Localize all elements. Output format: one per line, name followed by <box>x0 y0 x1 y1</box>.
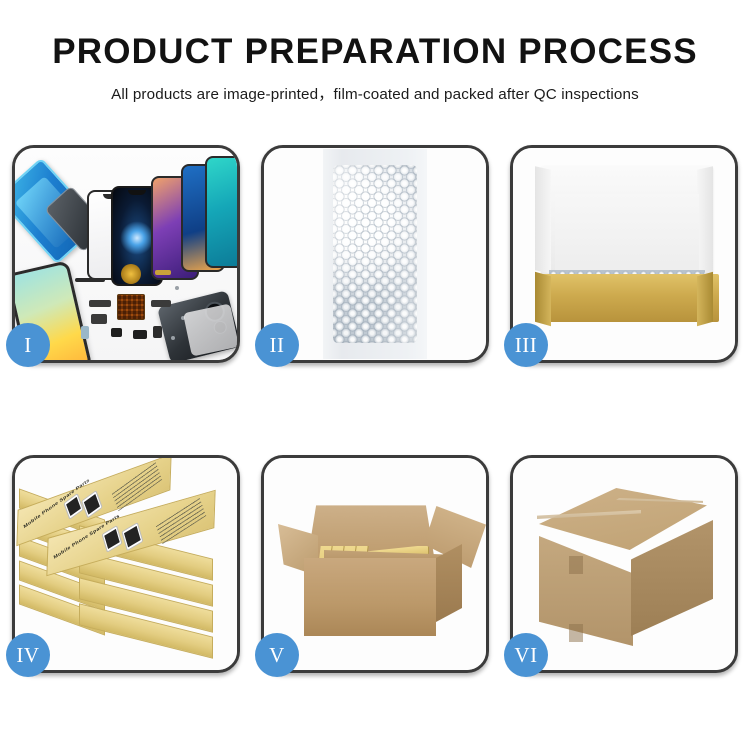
step-panel-2: II <box>261 145 489 363</box>
step-number-4: IV <box>6 633 50 677</box>
header: PRODUCT PREPARATION PROCESS All products… <box>0 0 750 104</box>
step-number-2: II <box>255 323 299 367</box>
step-panel-4: Mobile Phone Spare Parts Mobile Phone Sp… <box>12 455 240 673</box>
step-number-6: VI <box>504 633 548 677</box>
sealed-carton-left <box>539 536 633 646</box>
step-panel-6: VI <box>510 455 738 673</box>
page-title: PRODUCT PREPARATION PROCESS <box>0 34 750 71</box>
spare-parts-group <box>75 256 205 356</box>
step-image-2 <box>264 148 486 360</box>
step-panel-5: V <box>261 455 489 673</box>
step-panel-1: I I <box>12 145 240 363</box>
step-image-6 <box>513 458 735 670</box>
step-number-3: III <box>504 323 548 367</box>
product-preparation-infographic: PRODUCT PREPARATION PROCESS All products… <box>0 0 750 750</box>
bubble-wrap-pouch-icon <box>333 165 417 343</box>
kraft-tray-icon <box>535 274 719 322</box>
page-subtitle: All products are image-printed，film-coat… <box>0 82 750 104</box>
step-image-5 <box>264 458 486 670</box>
steps-grid: I I II <box>12 145 738 673</box>
box-lid-inner <box>555 194 699 274</box>
step-image-3 <box>513 148 735 360</box>
retail-box-stack: Mobile Phone Spare Parts Mobile Phone Sp… <box>15 458 237 670</box>
kraft-tray-edge-left <box>535 272 551 327</box>
carton-tab-lower <box>569 624 583 642</box>
box-lid-flap-left <box>535 166 551 273</box>
step-image-4: Mobile Phone Spare Parts Mobile Phone Sp… <box>15 458 237 670</box>
carton-tab-upper <box>569 556 583 574</box>
step-panel-3: III <box>510 145 738 363</box>
phone-teal-icon <box>205 156 237 268</box>
kraft-tray-edge-right <box>697 272 713 327</box>
box-lid-flap-right <box>697 166 713 273</box>
step-image-1: I <box>15 148 237 360</box>
repair-tools-icon <box>183 303 237 356</box>
step-number-5: V <box>255 633 299 677</box>
step-number-1: I <box>6 323 50 367</box>
carton-body-icon <box>304 558 436 636</box>
